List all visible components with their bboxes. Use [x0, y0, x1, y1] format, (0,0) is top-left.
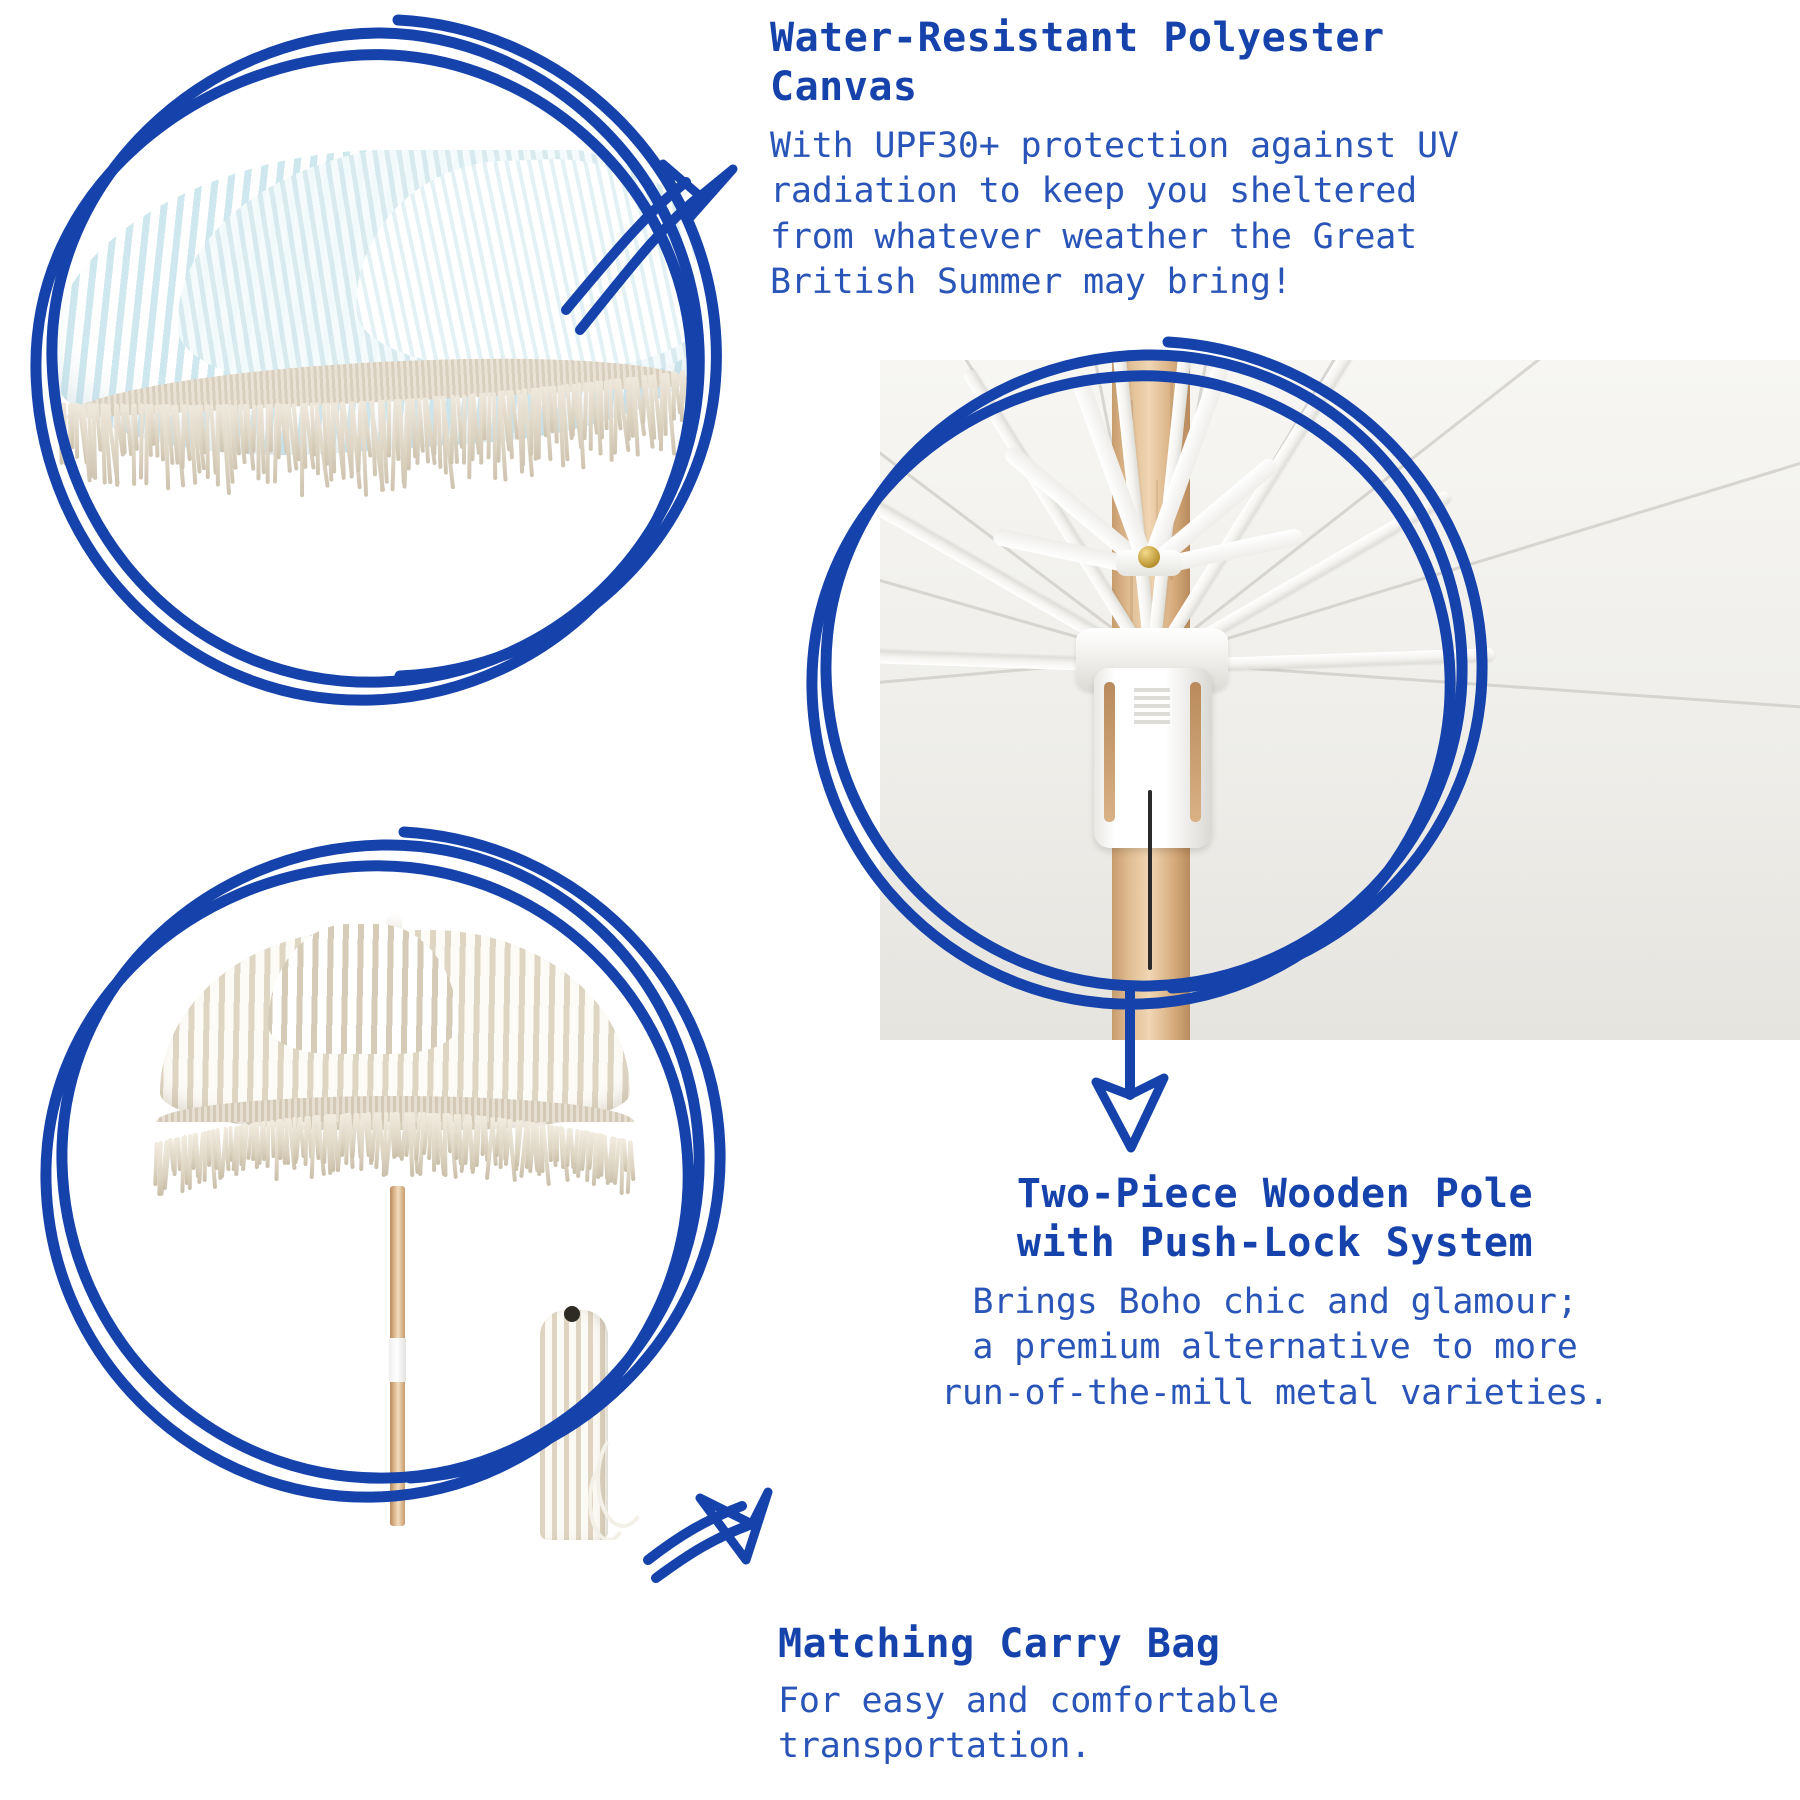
feature-heading-canvas: Water-Resistant Polyester Canvas: [770, 14, 1780, 112]
photo-canopy-closeup: [55, 150, 695, 570]
photo-full-umbrella: [120, 900, 720, 1540]
feature-block-bag: Matching Carry Bag For easy and comforta…: [778, 1620, 1788, 1770]
feature-block-pole: Two-Piece Wooden Pole with Push-Lock Sys…: [770, 1170, 1780, 1416]
push-lock-runner: [1094, 668, 1212, 848]
feature-body-bag: For easy and comfortable transportation.: [778, 1679, 1788, 1770]
push-lock-grip: [1134, 684, 1170, 728]
feature-heading-pole: Two-Piece Wooden Pole with Push-Lock Sys…: [770, 1170, 1780, 1268]
feature-body-pole: Brings Boho chic and glamour; a premium …: [770, 1280, 1780, 1417]
feature-block-canvas: Water-Resistant Polyester Canvas With UP…: [770, 14, 1780, 306]
feature-body-canvas: With UPF30+ protection against UV radiat…: [770, 124, 1780, 306]
photo-hub-closeup: [880, 360, 1800, 1040]
umbrella-pole-joint-band: [389, 1338, 406, 1382]
pole-cord: [1148, 790, 1152, 970]
carry-bag-cinch: [564, 1306, 580, 1322]
brass-screw: [1138, 546, 1160, 568]
infographic-canvas: Water-Resistant Polyester Canvas With UP…: [0, 0, 1800, 1800]
feature-heading-bag: Matching Carry Bag: [778, 1620, 1788, 1669]
carry-bag-strap-inner: [588, 1460, 630, 1540]
